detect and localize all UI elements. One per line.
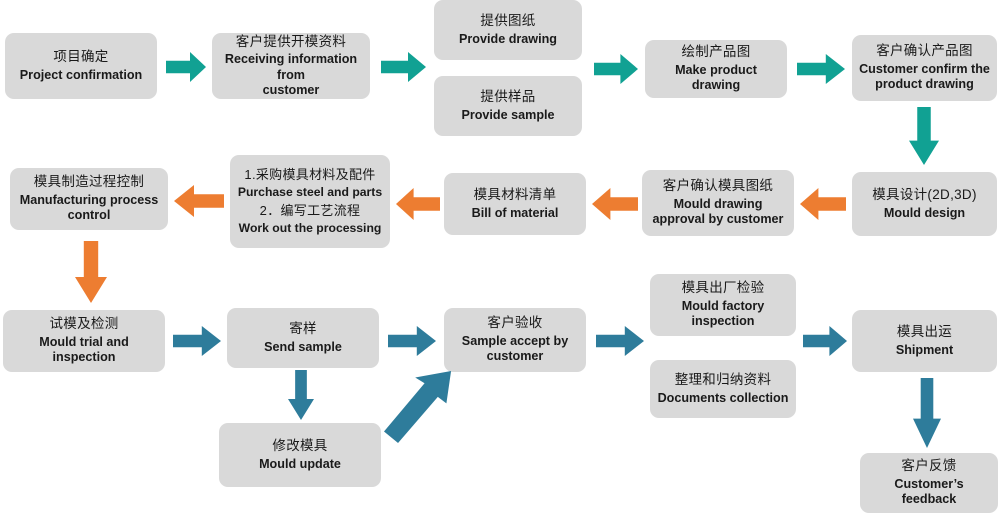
- node-mould-drawing-approval[interactable]: 客户确认模具图纸Mould drawingapproval by custome…: [642, 170, 794, 236]
- node-label-en-line: Customer’s feedback: [866, 477, 992, 508]
- node-label-en: Bill of material: [472, 206, 559, 221]
- arrow-confirm-to-mould-design: [909, 107, 939, 165]
- node-label-cn: 绘制产品图: [682, 44, 751, 60]
- node-label-en: Sample accept bycustomer: [462, 334, 568, 365]
- node-label-cn: 模具设计(2D,3D): [872, 187, 977, 203]
- node-label-cn: 模具出厂检验: [682, 280, 765, 296]
- node-label-cn: 模具材料清单: [474, 187, 557, 203]
- flowchart-canvas: 项目确定Project confirmation客户提供开模资料Receivin…: [0, 0, 1000, 516]
- node-label-cn: 模具制造过程控制: [34, 174, 144, 190]
- node-label-en-line: Provide sample: [461, 108, 554, 123]
- node-label-en: Documents collection: [658, 391, 789, 406]
- node-label-cn: 寄样: [289, 321, 317, 337]
- node-mould-design[interactable]: 模具设计(2D,3D)Mould design: [852, 172, 997, 236]
- node-label-en-line: Send sample: [264, 340, 342, 355]
- node-label-en: Customer’s feedback: [866, 477, 992, 508]
- arrow-send-sample-to-accept: [388, 326, 436, 356]
- node-label-cn: 客户确认产品图: [876, 43, 973, 59]
- arrow-shape: [166, 52, 206, 82]
- arrow-shape: [173, 326, 221, 356]
- node-label-en-line: inspection: [682, 314, 765, 329]
- node-label-en-line: Shipment: [896, 343, 953, 358]
- node-mould-update[interactable]: 修改模具Mould update: [219, 423, 381, 487]
- node-label-en: Receiving information fromcustomer: [218, 52, 364, 98]
- arrow-shape: [288, 370, 314, 420]
- node-label-en-line: Receiving information from: [218, 52, 364, 83]
- node-provide-drawing[interactable]: 提供图纸Provide drawing: [434, 0, 582, 60]
- node-label-cn: 客户反馈: [901, 458, 956, 474]
- node-send-sample[interactable]: 寄样Send sample: [227, 308, 379, 368]
- arrow-shape: [75, 241, 107, 303]
- arrow-shape: [592, 188, 638, 220]
- node-label-en-line: Purchase steel and parts: [238, 185, 382, 200]
- node-label-en: Manufacturing processcontrol: [20, 193, 159, 224]
- arrow-manufacturing-to-trial: [75, 241, 107, 303]
- node-label-cn: 提供样品: [480, 89, 535, 105]
- node-project-confirmation[interactable]: 项目确定Project confirmation: [5, 33, 157, 99]
- node-documents-collection[interactable]: 整理和归纳资料Documents collection: [650, 360, 796, 418]
- arrow-shape: [396, 188, 440, 220]
- node-label-en-line: Mould design: [884, 206, 965, 221]
- node-sample-accept-by-customer[interactable]: 客户验收Sample accept bycustomer: [444, 308, 586, 372]
- node-label-en-line: Mould factory: [682, 299, 765, 314]
- arrow-purchase-to-manufacturing: [174, 185, 224, 217]
- node-customer-feedback[interactable]: 客户反馈Customer’s feedback: [860, 453, 998, 513]
- arrow-shape: [388, 326, 436, 356]
- node-label-en-line: Mould update: [259, 457, 341, 472]
- arrow-shape: [913, 378, 941, 448]
- arrow-shape: [174, 185, 224, 217]
- node-label-cn: 1.采购模具材料及配件: [244, 167, 375, 183]
- node-manufacturing-process-control[interactable]: 模具制造过程控制Manufacturing processcontrol: [10, 168, 168, 230]
- arrow-mould-design-to-approval: [800, 188, 846, 220]
- node-label-cn: 整理和归纳资料: [675, 372, 772, 388]
- node-label-en: Mould drawingapproval by customer: [653, 197, 784, 228]
- node-label-en-line: Sample accept by: [462, 334, 568, 349]
- node-label-en-line: Bill of material: [472, 206, 559, 221]
- node-label-cn: 客户验收: [487, 315, 542, 331]
- node-label-cn: 客户确认模具图纸: [663, 178, 773, 194]
- node-label-cn: 模具出运: [897, 324, 952, 340]
- node-label-en-2-line: Work out the processing: [239, 221, 382, 236]
- node-label-en-line: customer: [462, 349, 568, 364]
- node-mould-trial-and-inspection[interactable]: 试模及检测Mould trial and inspection: [3, 310, 165, 372]
- node-label-en: Provide sample: [461, 108, 554, 123]
- node-label-cn-2: 2．编写工艺流程: [260, 203, 361, 219]
- node-label-en: Shipment: [896, 343, 953, 358]
- node-label-en: Project confirmation: [20, 68, 142, 83]
- arrow-bom-to-purchase: [396, 188, 440, 220]
- node-customer-confirm-product-drawing[interactable]: 客户确认产品图Customer confirm theproduct drawi…: [852, 35, 997, 101]
- arrow-approval-to-bom: [592, 188, 638, 220]
- node-shipment[interactable]: 模具出运Shipment: [852, 310, 997, 372]
- arrow-provide-to-make-drawing: [594, 54, 638, 84]
- node-label-en-line: Customer confirm the: [859, 62, 990, 77]
- node-mould-factory-inspection[interactable]: 模具出厂检验Mould factoryinspection: [650, 274, 796, 336]
- node-label-en: Purchase steel and parts: [238, 185, 382, 200]
- arrow-shape: [800, 188, 846, 220]
- arrow-shipment-to-feedback: [913, 378, 941, 448]
- arrow-shape: [596, 326, 644, 356]
- node-label-en: Provide drawing: [459, 32, 557, 47]
- arrow-shape: [381, 52, 426, 82]
- node-label-en-line: Mould drawing: [653, 197, 784, 212]
- node-label-cn: 修改模具: [272, 438, 327, 454]
- node-label-en: Customer confirm theproduct drawing: [859, 62, 990, 93]
- node-label-cn: 客户提供开模资料: [236, 34, 346, 50]
- node-label-en: Mould trial and inspection: [9, 335, 159, 366]
- arrow-shape: [384, 371, 451, 443]
- arrow-shape: [594, 54, 638, 84]
- node-label-en-line: Project confirmation: [20, 68, 142, 83]
- node-provide-sample[interactable]: 提供样品Provide sample: [434, 76, 582, 136]
- node-label-en-line: Documents collection: [658, 391, 789, 406]
- node-label-en-line: control: [20, 208, 159, 223]
- node-label-en-line: customer: [218, 83, 364, 98]
- node-label-en-line: Mould trial and inspection: [9, 335, 159, 366]
- node-make-product-drawing[interactable]: 绘制产品图Make product drawing: [645, 40, 787, 98]
- arrow-make-drawing-to-confirm: [797, 54, 845, 84]
- arrow-shape: [803, 326, 847, 356]
- arrow-inspection-to-shipment: [803, 326, 847, 356]
- node-label-en: Send sample: [264, 340, 342, 355]
- node-label-en-line: Manufacturing process: [20, 193, 159, 208]
- node-label-en-line: Provide drawing: [459, 32, 557, 47]
- node-label-en-2: Work out the processing: [239, 221, 382, 236]
- node-label-en-line: product drawing: [859, 77, 990, 92]
- arrow-update-to-accept: [384, 371, 462, 443]
- arrow-shape: [909, 107, 939, 165]
- node-label-en-line: approval by customer: [653, 212, 784, 227]
- node-label-en: Make product drawing: [651, 63, 781, 94]
- arrow-shape: [797, 54, 845, 84]
- arrow-receiving-to-provide: [381, 52, 426, 82]
- node-label-cn: 项目确定: [53, 49, 108, 65]
- node-receiving-information[interactable]: 客户提供开模资料Receiving information fromcustom…: [212, 33, 370, 99]
- arrow-project-to-receiving: [166, 52, 206, 82]
- node-bill-of-material[interactable]: 模具材料清单Bill of material: [444, 173, 586, 235]
- node-label-en: Mould design: [884, 206, 965, 221]
- node-label-en: Mould update: [259, 457, 341, 472]
- node-label-en-line: Make product drawing: [651, 63, 781, 94]
- node-label-cn: 提供图纸: [480, 13, 535, 29]
- arrow-trial-to-send-sample: [173, 326, 221, 356]
- arrow-accept-to-inspection: [596, 326, 644, 356]
- arrow-send-sample-to-update: [288, 370, 314, 420]
- node-label-en: Mould factoryinspection: [682, 299, 765, 330]
- node-label-cn: 试模及检测: [50, 316, 119, 332]
- node-purchase-and-processing[interactable]: 1.采购模具材料及配件Purchase steel and parts2．编写工…: [230, 155, 390, 248]
